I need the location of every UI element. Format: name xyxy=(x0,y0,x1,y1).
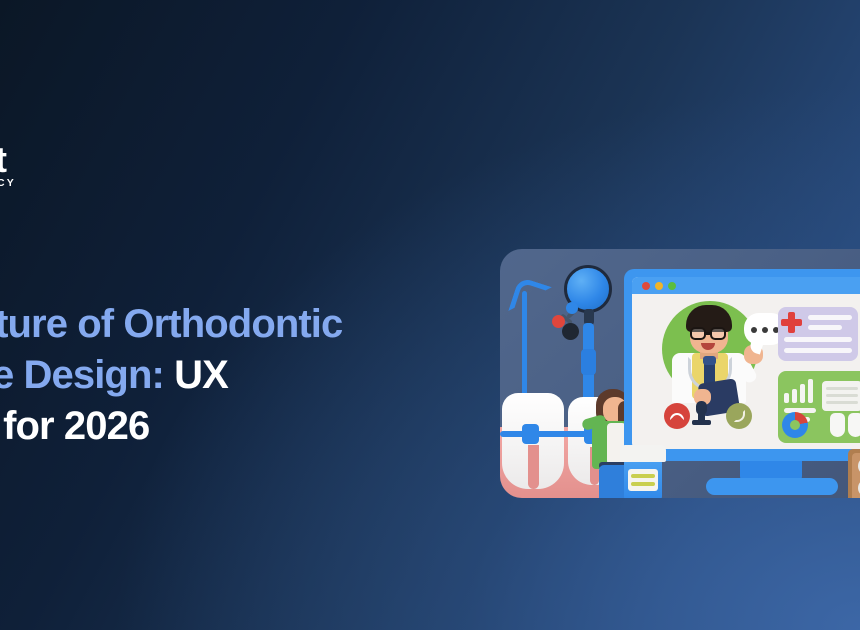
headline-line-1: Future of Orthodontic xyxy=(0,299,468,350)
dental-probe-icon xyxy=(522,291,527,403)
tooth-icon xyxy=(848,413,860,437)
medicine-bottle-label xyxy=(628,469,658,491)
mouth-mirror-grip xyxy=(581,349,596,375)
medicine-bottle-cap xyxy=(620,445,666,462)
headline-line-2: site Design: UX xyxy=(0,350,468,401)
dental-probe-hook-icon xyxy=(508,277,551,322)
browser-minimize-dot-icon[interactable] xyxy=(655,282,663,290)
medical-cross-icon xyxy=(781,319,802,326)
label-line xyxy=(631,474,655,478)
bar-chart-bar xyxy=(800,384,805,403)
browser-title-bar xyxy=(632,277,860,294)
blog-hero-banner: fast C AGENCY Future of Orthodontic site… xyxy=(0,0,860,630)
analytics-text-block xyxy=(822,381,860,411)
tooth-icon xyxy=(830,413,845,437)
phone-icon xyxy=(734,410,745,422)
page-title: Future of Orthodontic site Design: UX ds… xyxy=(0,299,468,453)
hero-illustration-card xyxy=(500,249,860,498)
phone-hangup-icon xyxy=(670,413,684,420)
brand-logo[interactable]: fast C AGENCY xyxy=(0,58,120,186)
typing-dot-icon xyxy=(762,327,768,333)
monitor-base xyxy=(706,478,838,495)
headline-line-3: ds for 2026 xyxy=(0,401,468,452)
bar-chart-bar xyxy=(808,379,813,403)
record-text-line xyxy=(784,337,852,342)
doctor-glasses-lens xyxy=(690,327,706,340)
donut-chart xyxy=(782,412,808,438)
molecule-atom-blue xyxy=(566,302,578,314)
browser-maximize-dot-icon[interactable] xyxy=(668,282,676,290)
record-text-line xyxy=(808,315,852,320)
doctor-glasses-lens xyxy=(710,327,726,340)
logo-wordmark: fast xyxy=(0,142,6,178)
accept-call-button[interactable] xyxy=(726,403,752,429)
doctor-tie-knot xyxy=(703,356,716,365)
decline-call-button[interactable] xyxy=(664,403,690,429)
bar-chart-bar xyxy=(792,389,797,403)
logo-tagline: C AGENCY xyxy=(0,178,16,189)
record-text-line xyxy=(808,325,842,330)
browser-close-dot-icon[interactable] xyxy=(642,282,650,290)
typing-dot-icon xyxy=(751,327,757,333)
headline-line-2-plain: UX xyxy=(174,353,228,397)
label-line xyxy=(631,482,655,486)
microphone-base xyxy=(692,420,711,425)
doctor-glasses-bridge xyxy=(705,332,712,335)
headline-line-2-accent: site Design: xyxy=(0,353,164,397)
braces-bracket xyxy=(522,424,539,444)
monitor-screen xyxy=(632,277,860,449)
molecule-atom-dark xyxy=(562,323,579,340)
bar-chart-bar xyxy=(784,393,789,403)
record-text-line xyxy=(784,348,852,353)
tooth-outline-icon xyxy=(0,58,12,140)
